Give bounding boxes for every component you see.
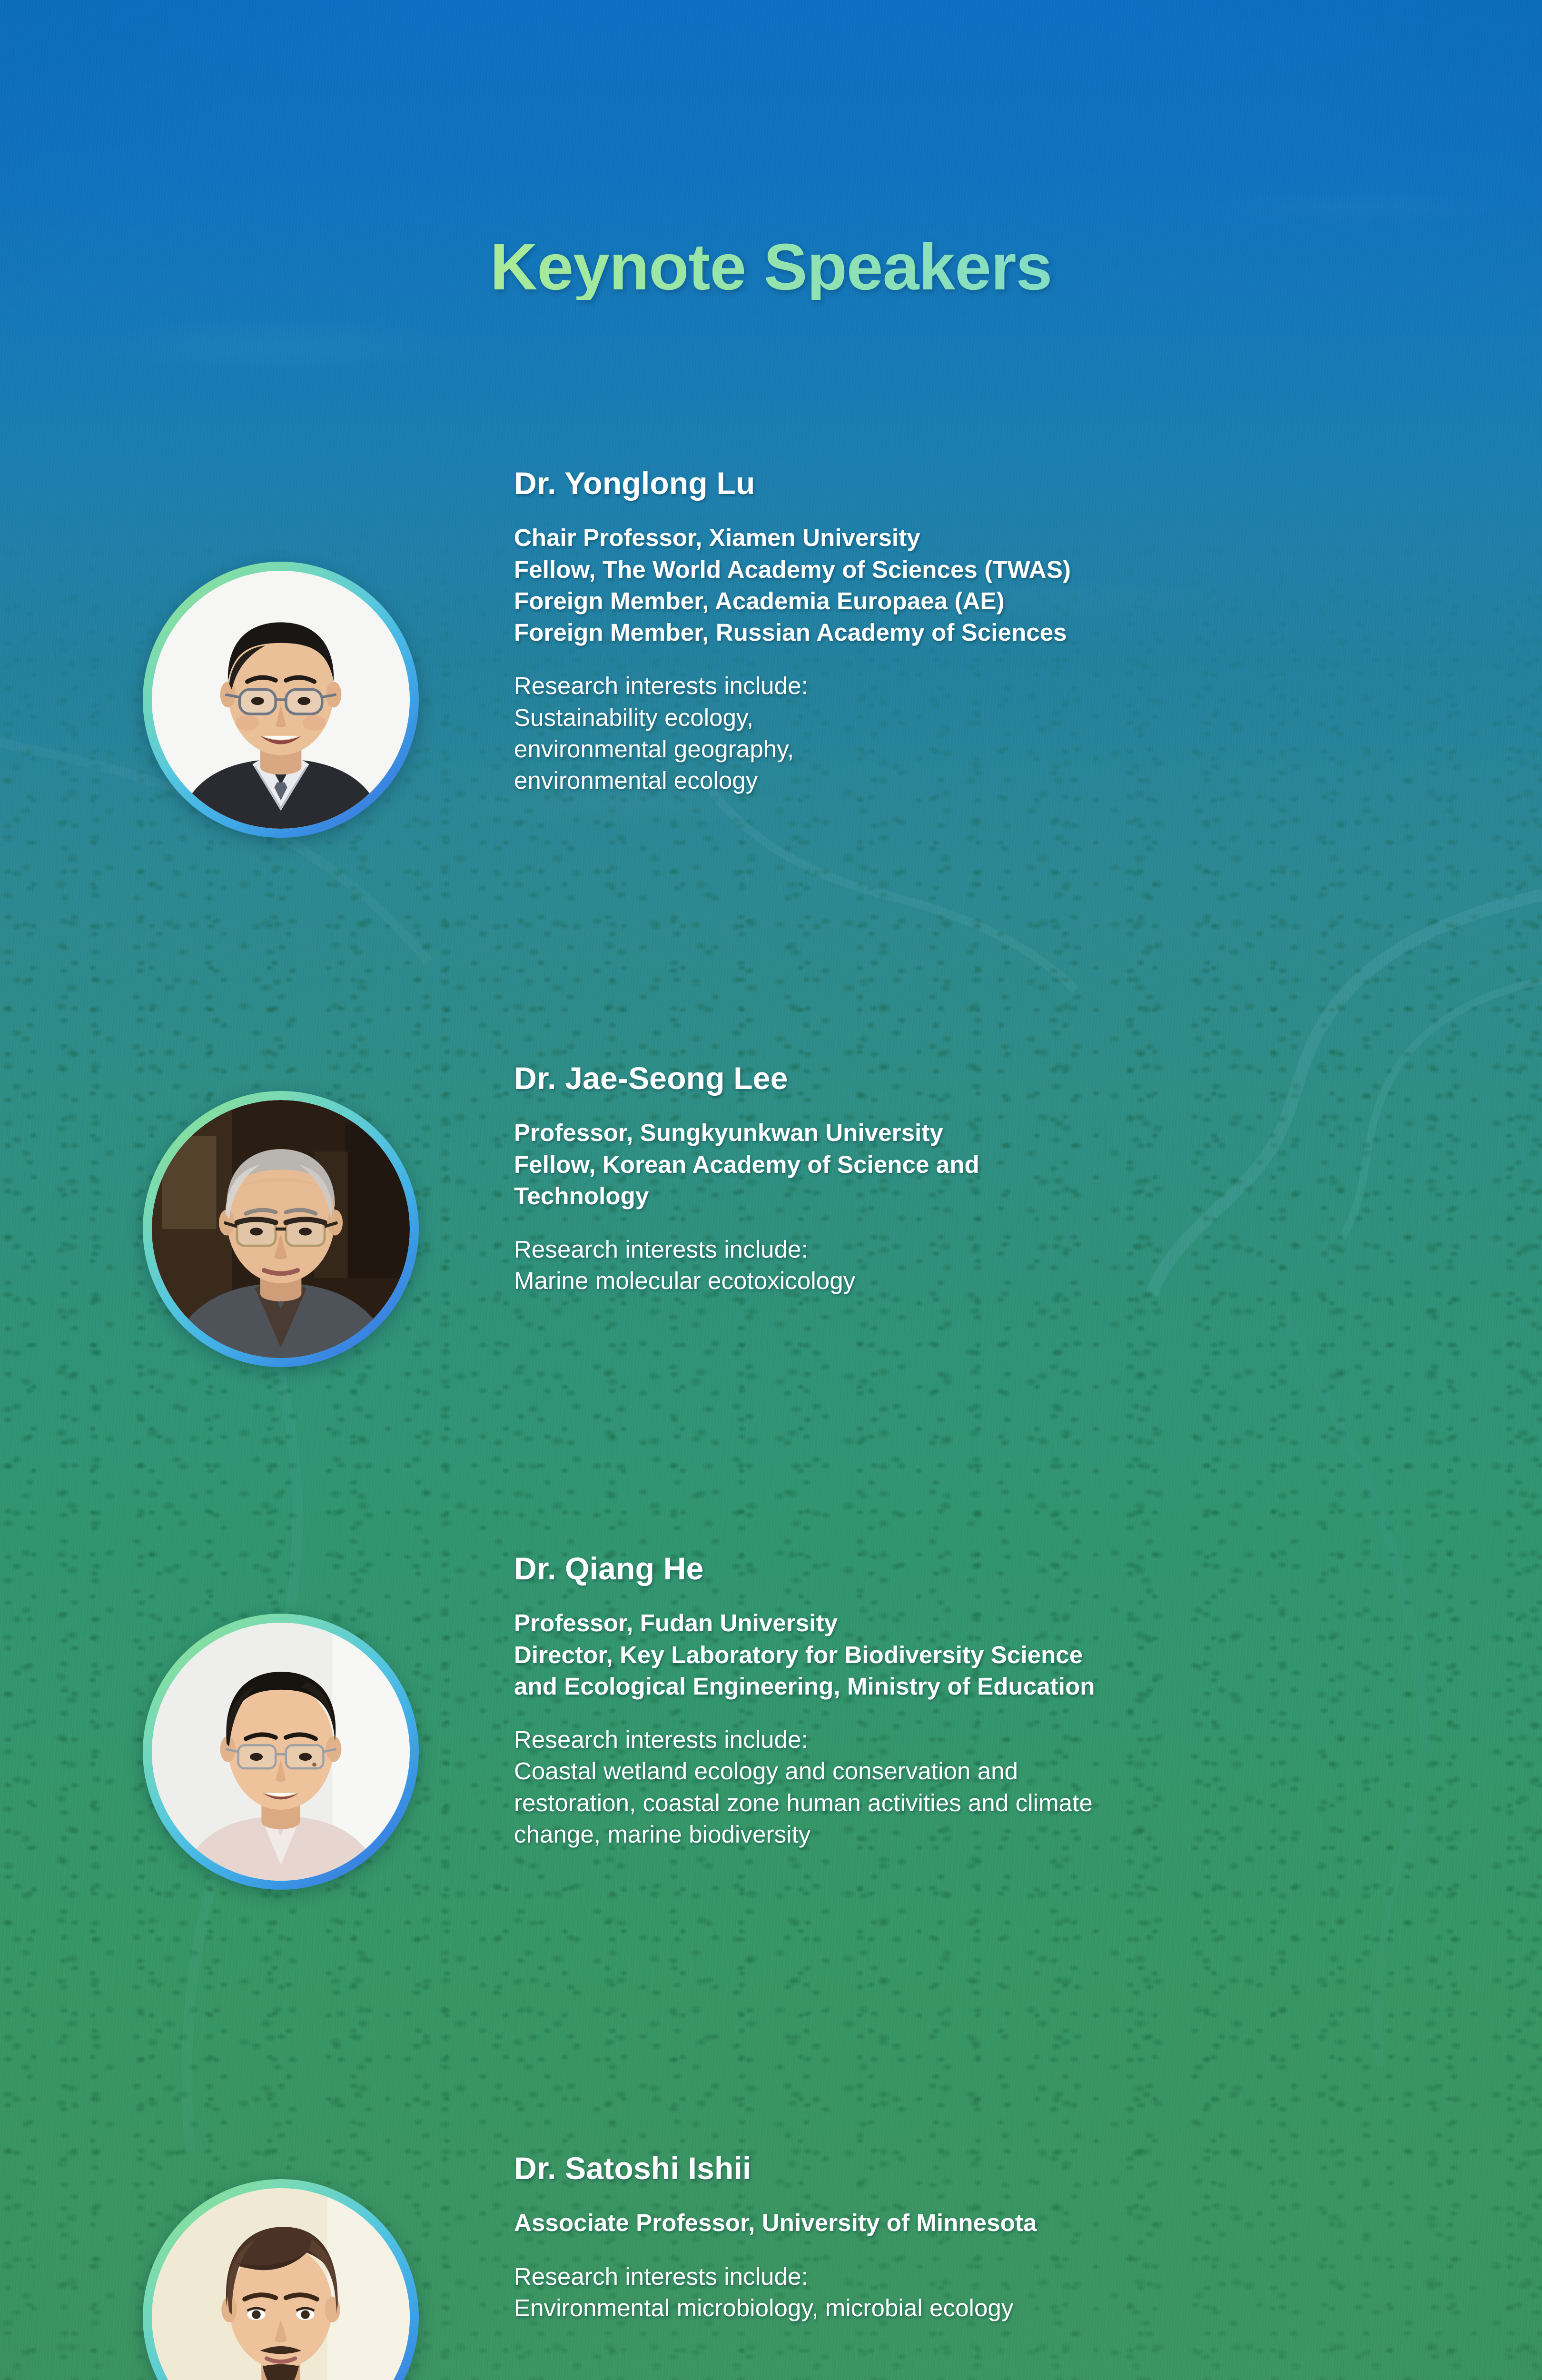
avatar-2 <box>143 1091 419 1367</box>
affiliation-line: Director, Key Laboratory for Biodiversit… <box>514 1639 1490 1671</box>
speaker-4-name: Dr. Satoshi Ishii <box>514 2152 1447 2185</box>
speaker-2-text: Dr. Jae-Seong Lee Professor, Sungkyunkwa… <box>514 1061 1447 1297</box>
speaker-3-research: Research interests include: Coastal wetl… <box>514 1724 1490 1850</box>
speaker-3-name: Dr. Qiang He <box>514 1552 1490 1586</box>
affiliation-line: Professor, Fudan University <box>514 1607 1490 1639</box>
portrait-yonglong-lu-icon <box>152 571 410 829</box>
speaker-4-research: Research interests include: Environmenta… <box>514 2261 1447 2324</box>
avatar-3 <box>143 1614 419 1890</box>
affiliation-line: Technology <box>514 1180 1447 1212</box>
affiliation-line: Fellow, The World Academy of Sciences (T… <box>514 554 1447 585</box>
research-line: change, marine biodiversity <box>514 1819 1490 1850</box>
avatar-2-image <box>152 1100 410 1358</box>
affiliation-line: Fellow, Korean Academy of Science and <box>514 1149 1447 1180</box>
research-heading: Research interests include: <box>514 670 1447 702</box>
research-line: Sustainability ecology, <box>514 702 1447 734</box>
speaker-1-name: Dr. Yonglong Lu <box>514 466 1447 500</box>
avatar-3-image <box>152 1623 410 1881</box>
research-line: restoration, coastal zone human activiti… <box>514 1787 1490 1819</box>
research-line: Coastal wetland ecology and conservation… <box>514 1755 1490 1787</box>
affiliation-line: Foreign Member, Academia Europaea (AE) <box>514 585 1447 617</box>
affiliation-line: Chair Professor, Xiamen University <box>514 522 1447 554</box>
speaker-4-text: Dr. Satoshi Ishii Associate Professor, U… <box>514 2152 1447 2324</box>
research-line: Marine molecular ecotoxicology <box>514 1265 1447 1297</box>
speaker-3-affiliations: Professor, Fudan University Director, Ke… <box>514 1607 1490 1702</box>
research-line: Environmental microbiology, microbial ec… <box>514 2292 1447 2324</box>
research-heading: Research interests include: <box>514 1234 1447 1265</box>
avatar-1 <box>143 562 419 838</box>
portrait-satoshi-ishii-icon <box>152 2188 410 2380</box>
poster-content: Keynote Speakers <box>0 0 1542 2380</box>
research-heading: Research interests include: <box>514 1724 1490 1755</box>
speaker-3-text: Dr. Qiang He Professor, Fudan University… <box>514 1552 1490 1850</box>
research-heading: Research interests include: <box>514 2261 1447 2292</box>
research-line: environmental geography, <box>514 734 1447 765</box>
research-line: environmental ecology <box>514 765 1447 796</box>
avatar-4-image <box>152 2188 410 2380</box>
avatar-1-image <box>152 571 410 829</box>
affiliation-line: Professor, Sungkyunkwan University <box>514 1117 1447 1149</box>
speaker-2-research: Research interests include: Marine molec… <box>514 1234 1447 1297</box>
speaker-2-affiliations: Professor, Sungkyunkwan University Fello… <box>514 1117 1447 1212</box>
affiliation-line: Foreign Member, Russian Academy of Scien… <box>514 617 1447 648</box>
speaker-1-text: Dr. Yonglong Lu Chair Professor, Xiamen … <box>514 466 1447 797</box>
page-title: Keynote Speakers <box>0 234 1542 300</box>
speaker-1-research: Research interests include: Sustainabili… <box>514 670 1447 796</box>
portrait-jae-seong-lee-icon <box>152 1100 410 1358</box>
affiliation-line: Associate Professor, University of Minne… <box>514 2207 1447 2239</box>
speaker-1-affiliations: Chair Professor, Xiamen University Fello… <box>514 522 1447 648</box>
speaker-2-name: Dr. Jae-Seong Lee <box>514 1061 1447 1095</box>
portrait-qiang-he-icon <box>152 1623 410 1881</box>
speaker-4-affiliations: Associate Professor, University of Minne… <box>514 2207 1447 2239</box>
keynote-speakers-poster: Keynote Speakers <box>0 0 1542 2380</box>
avatar-4 <box>143 2179 419 2380</box>
affiliation-line: and Ecological Engineering, Ministry of … <box>514 1671 1490 1702</box>
